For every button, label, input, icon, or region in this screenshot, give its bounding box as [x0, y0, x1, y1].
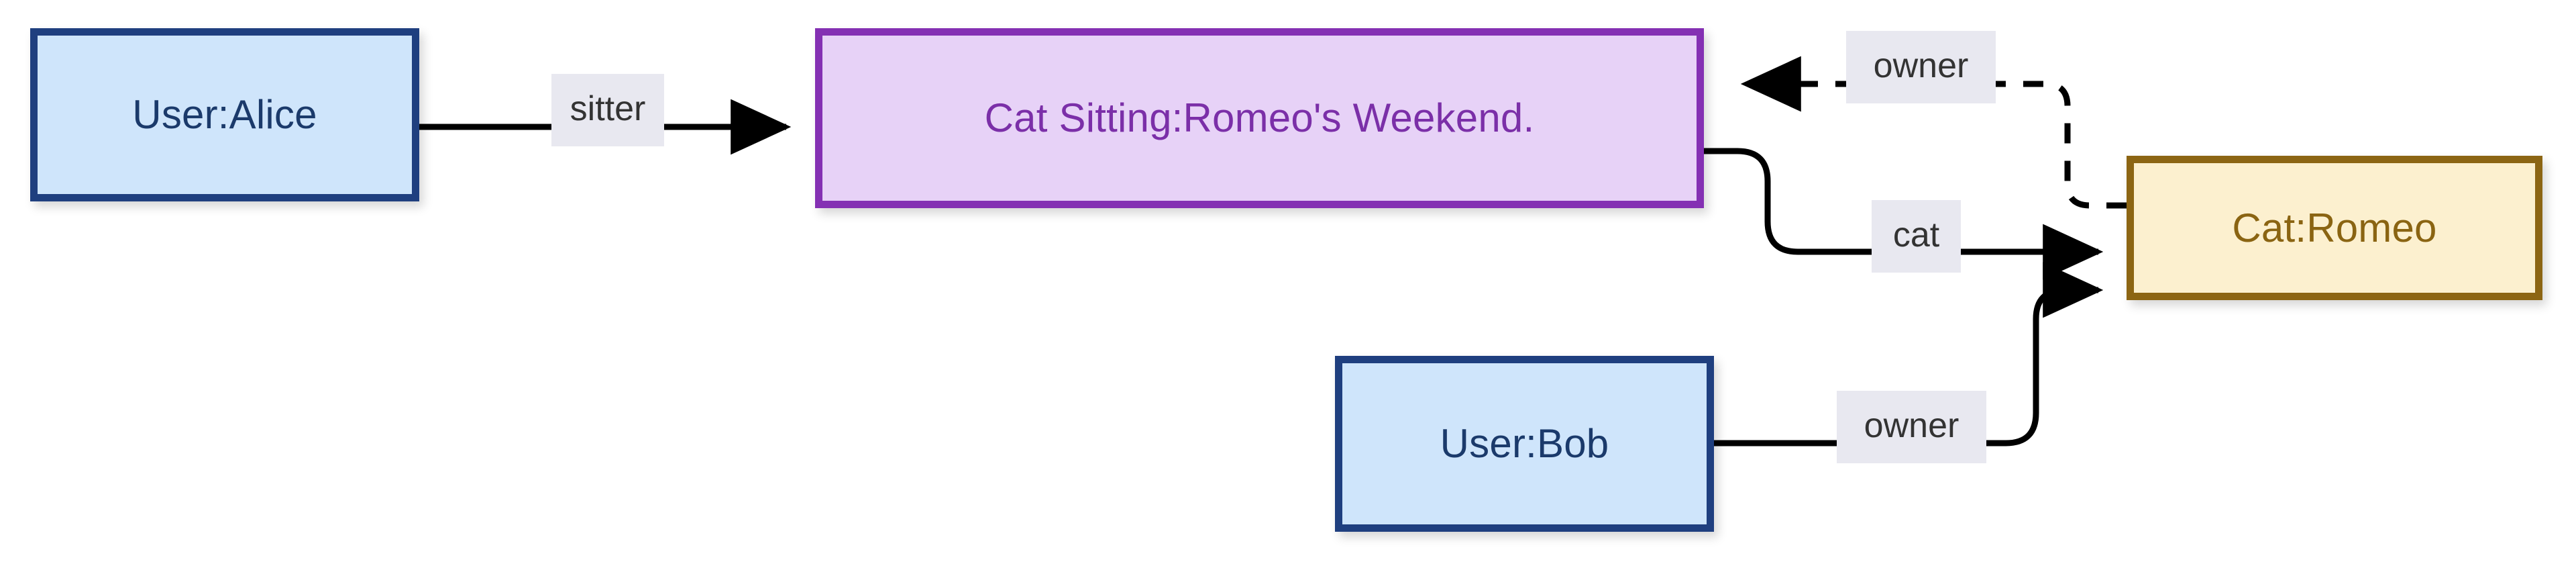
node-label-user-alice: User:Alice — [132, 93, 317, 137]
edge-label-owner-cat-to-sitting-text: owner — [1874, 46, 1969, 85]
node-cat-sitting-romeos-weekend[interactable]: Cat Sitting:Romeo's Weekend. — [815, 28, 1704, 208]
node-label-cat-sitting: Cat Sitting:Romeo's Weekend. — [985, 96, 1535, 140]
edge-label-cat-text: cat — [1893, 216, 1939, 254]
node-label-user-bob: User:Bob — [1440, 422, 1609, 466]
node-label-cat-romeo: Cat:Romeo — [2232, 206, 2436, 250]
diagram-canvas: User:Alice Cat Sitting:Romeo's Weekend. … — [0, 0, 2576, 564]
edge-label-owner-bob-to-cat-text: owner — [1864, 406, 1960, 445]
edge-label-owner-bob-to-cat: owner — [1837, 391, 1986, 463]
node-user-bob[interactable]: User:Bob — [1335, 356, 1714, 532]
edge-label-sitter: sitter — [551, 74, 664, 146]
node-cat-romeo[interactable]: Cat:Romeo — [2127, 156, 2542, 300]
node-user-alice[interactable]: User:Alice — [30, 28, 419, 201]
edge-label-cat: cat — [1872, 200, 1961, 273]
edge-label-sitter-text: sitter — [570, 89, 646, 128]
edge-label-owner-cat-to-sitting: owner — [1846, 31, 1996, 103]
